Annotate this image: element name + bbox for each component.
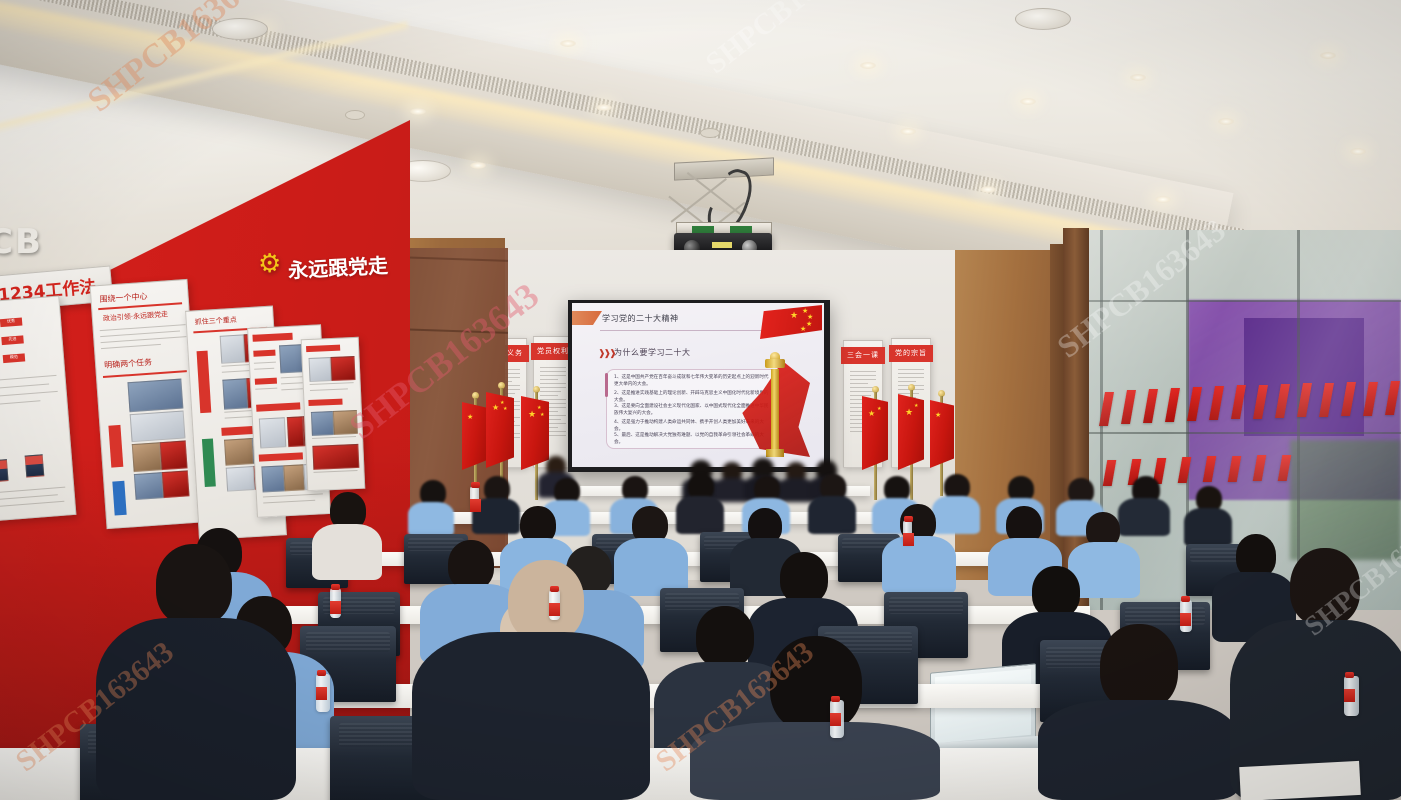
person-head — [1032, 566, 1080, 618]
slide-bullet-1: 1、这是中国共产党在百年奋斗成就和七年伟大变革的历史起点上的迎新时代更大举内的大… — [614, 375, 772, 389]
smoke-detector-icon — [700, 128, 720, 138]
person-body — [808, 496, 856, 534]
board-photo — [226, 466, 255, 492]
downlight-icon — [860, 62, 876, 69]
person-body — [932, 496, 980, 534]
board-subtag — [256, 402, 300, 411]
water-bottle — [470, 486, 479, 510]
smoke-detector-icon — [345, 110, 365, 120]
ceiling-speaker-icon — [1015, 8, 1071, 30]
downlight-icon — [596, 104, 612, 111]
person-body — [1118, 498, 1170, 536]
person-body — [676, 496, 724, 534]
glass-mullion — [1297, 230, 1300, 610]
board-photo — [259, 417, 287, 448]
board-photo — [309, 357, 332, 382]
water-bottle — [1180, 600, 1192, 632]
board-photo — [132, 442, 162, 472]
downlight-icon — [410, 108, 426, 115]
tag-advanced: 先进 — [1, 335, 24, 345]
vertical-tag-cohesion — [108, 425, 123, 468]
person-head — [770, 636, 862, 732]
china-flag-graphic: ★ ★ ★ ★ ★ — [760, 305, 822, 339]
person-body — [1038, 700, 1238, 800]
vertical-tag-vitality — [112, 481, 126, 516]
water-bottle — [903, 520, 912, 544]
tag-outstanding: 优秀 — [0, 317, 22, 327]
party-emblem-icon: ⚙ — [258, 250, 281, 276]
downlight-icon — [900, 128, 916, 135]
person-body — [312, 524, 382, 580]
board-photo — [333, 410, 358, 435]
person-head — [448, 540, 494, 590]
board-photo — [224, 438, 254, 466]
water-bottle — [316, 674, 330, 712]
glass-transom — [1065, 432, 1401, 434]
board-photo — [134, 472, 164, 500]
slide-title: 学习党的二十大精神 — [602, 313, 679, 324]
board-photo — [160, 440, 188, 470]
board-heading-one-center: 围绕一个中心 — [99, 291, 148, 305]
board-photo — [261, 465, 284, 492]
person-head — [156, 544, 232, 626]
wall-panel-title: 三会一课 — [841, 347, 885, 364]
ceiling-speaker-icon — [212, 18, 268, 40]
slide-title-tab — [572, 311, 602, 325]
board-subtag — [308, 399, 342, 406]
person-body — [882, 536, 956, 594]
slide-chevron-icon: ❱❱❱ — [598, 348, 615, 359]
downlight-icon — [1350, 148, 1366, 155]
downlight-icon — [1155, 196, 1171, 203]
wall-slogan-text: 永远跟党走 — [287, 249, 388, 283]
person-head — [1100, 624, 1178, 710]
slide-bullet-2: 2、这是推进实践基础上的理论创新、开辟马克思主义中国化时代化新境界的大会。 — [614, 391, 772, 405]
person-head — [696, 606, 754, 668]
portrait-photo — [25, 454, 45, 477]
person-body — [412, 632, 650, 800]
water-bottle — [549, 590, 560, 620]
board-photo — [283, 464, 304, 491]
display-board-5 — [301, 337, 366, 491]
tag-model: 模范 — [3, 353, 26, 363]
vertical-tag — [202, 438, 216, 487]
slide-accent-bar — [605, 373, 608, 397]
board-subtag — [252, 333, 292, 342]
outdoor-greenery — [1290, 440, 1401, 560]
downlight-icon — [1320, 52, 1336, 59]
person-head-bald — [508, 560, 584, 642]
person-body — [1184, 508, 1232, 546]
downlight-icon — [1020, 98, 1036, 105]
water-bottle — [330, 588, 341, 618]
person-head — [1290, 548, 1360, 626]
projection-screen: 学习党的二十大精神 ❱❱❱ 为什么要学习二十大 1、这是中国共产党在百年奋斗成就… — [572, 303, 824, 467]
slide-bullet-5: 5、最后、这是推动解决大党独有难题、以党的自我革命引领社会革命的大会。 — [614, 433, 772, 447]
board-subtag — [306, 345, 340, 352]
person-head — [780, 552, 828, 604]
downlight-icon — [1218, 118, 1234, 125]
board-subtag — [259, 452, 303, 461]
downlight-icon — [560, 40, 576, 47]
photo-scene: 党员义务 党员权利 三会一课 党的宗旨 — [0, 0, 1401, 800]
board-photo — [127, 379, 183, 413]
board-photo — [162, 470, 190, 498]
board-heading-two-tasks: 明确两个任务 — [104, 357, 153, 371]
board-photo — [311, 411, 334, 436]
board-photo — [312, 444, 359, 470]
board-photo — [220, 334, 246, 363]
huabiao-column-graphic — [764, 353, 786, 457]
wall-panel-title: 党的宗旨 — [889, 345, 933, 362]
slide-subtitle: 为什么要学习二十大 — [614, 347, 691, 358]
board-photo — [222, 378, 248, 409]
board-subtag — [255, 378, 277, 385]
glass-transom — [1065, 300, 1401, 302]
company-logo: CB — [0, 222, 43, 262]
downlight-icon — [470, 162, 486, 169]
board-photo — [287, 416, 305, 447]
water-bottle — [1344, 676, 1359, 716]
board-heading-political: 政治引领·永远跟党走 — [103, 309, 169, 324]
downlight-icon — [1130, 74, 1146, 81]
portrait-photo — [0, 459, 9, 482]
vertical-tag — [197, 351, 212, 414]
person-body — [408, 502, 454, 536]
board-photo — [130, 410, 186, 442]
board-photo — [331, 356, 356, 381]
board-subtag — [253, 350, 275, 357]
person-body — [690, 722, 940, 800]
person-body — [96, 618, 296, 800]
document-sheet — [1239, 761, 1361, 800]
downlight-icon — [980, 186, 996, 193]
projector-label — [712, 242, 732, 248]
water-bottle — [830, 700, 844, 738]
board-heading-three-focus: 抓住三个重点 — [194, 315, 237, 328]
